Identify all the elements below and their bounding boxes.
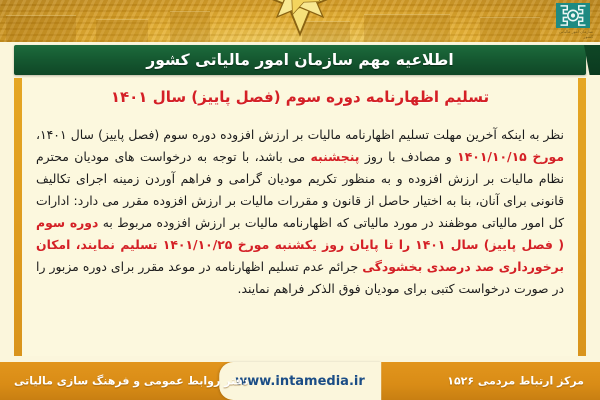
- left-gold-stripe: [14, 78, 22, 356]
- subtitle-heading: تسلیم اظهارنامه دوره سوم (فصل پاییز) سال…: [14, 88, 586, 106]
- tax-organization-emblem: سازمان امور مالیاتی کشور: [553, 3, 593, 39]
- main-title-banner: اطلاعیه مهم سازمان امور مالیاتی کشور: [14, 45, 586, 75]
- website-url-text[interactable]: www.intamedia.ir: [235, 374, 365, 389]
- right-gold-stripe: [578, 78, 586, 356]
- content-paper: تسلیم اظهارنامه دوره سوم (فصل پاییز) سال…: [14, 78, 586, 356]
- emblem-caption: سازمان امور مالیاتی کشور: [553, 29, 593, 39]
- public-relations-label: دفتر روابط عمومی و فرهنگ سازی مالیاتی: [14, 375, 248, 388]
- header-building-motif: [170, 11, 210, 42]
- announcement-poster: سازمان امور مالیاتی کشور اطلاعیه مهم ساز…: [0, 0, 600, 400]
- announcement-body: نظر به اینکه آخرین مهلت تسلیم اظهارنامه …: [36, 124, 564, 300]
- body-text-segment: و مصادف با روز: [359, 149, 457, 164]
- contact-center-label: مركز ارتباط مردمی ۱۵۲۶: [447, 375, 584, 388]
- deadline-date-primary: مورخ ۱۴۰۱/۱۰/۱۵: [457, 149, 564, 164]
- body-text-segment: نظر به اینکه آخرین مهلت تسلیم اظهارنامه …: [36, 127, 564, 142]
- body-paragraph: نظر به اینکه آخرین مهلت تسلیم اظهارنامه …: [36, 124, 564, 300]
- islamic-star-icon: [240, 0, 360, 40]
- header-building-motif: [364, 14, 450, 42]
- emblem-icon: [556, 3, 590, 28]
- decorative-header-banner: سازمان امور مالیاتی کشور: [0, 0, 600, 42]
- banner-title-text: اطلاعیه مهم سازمان امور مالیاتی کشور: [146, 51, 453, 69]
- footer-bar: مركز ارتباط مردمی ۱۵۲۶ www.intamedia.ir …: [0, 362, 600, 400]
- deadline-weekday-primary: پنجشنبه: [311, 149, 360, 164]
- header-building-motif: [480, 17, 540, 42]
- header-building-motif: [96, 19, 148, 42]
- header-building-motif: [6, 15, 76, 42]
- islamic-star-ornament-wrap: [225, 0, 375, 42]
